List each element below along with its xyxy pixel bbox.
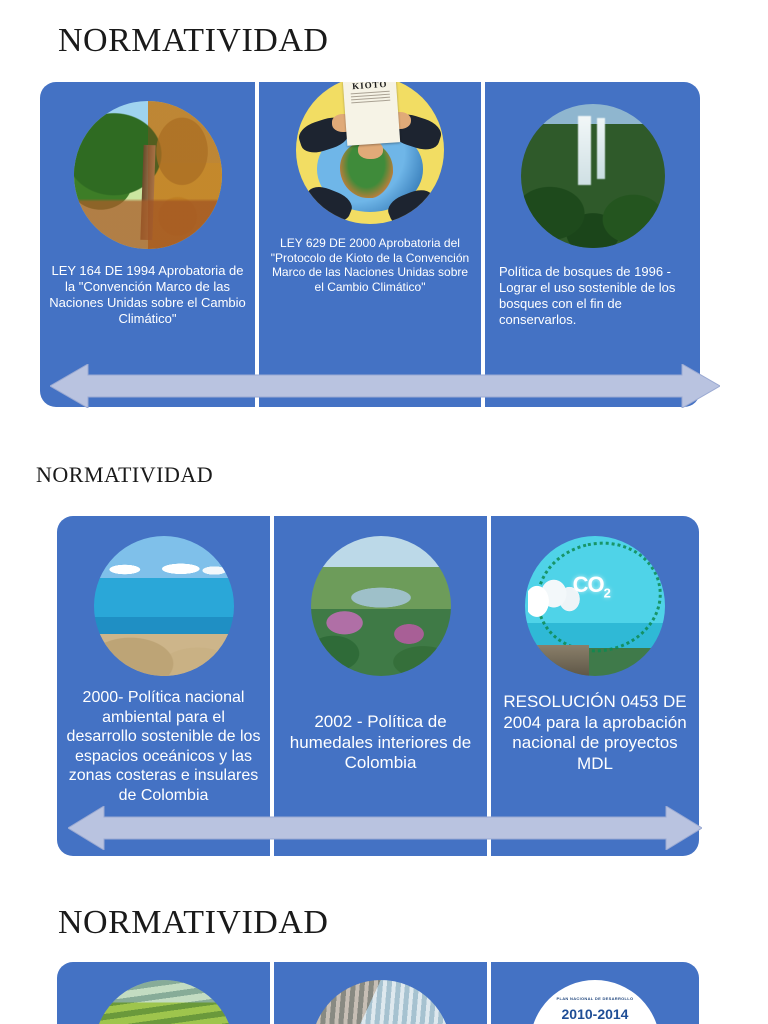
coastline-sea-photo bbox=[94, 536, 234, 676]
card-text-2-1: 2000- Política nacional ambiental para e… bbox=[57, 688, 270, 805]
card-politica-nacional-ambiental-2000[interactable]: 2000- Política nacional ambiental para e… bbox=[57, 516, 270, 856]
pnd-years: 2010-2014 bbox=[530, 1006, 660, 1022]
crop-fields-photo bbox=[94, 980, 234, 1024]
slide-section-2: NORMATIVIDAD 2000- Política nacional amb… bbox=[0, 440, 768, 890]
waterfall-forest-photo bbox=[521, 104, 665, 248]
card-ley-629-de-2000[interactable]: KIOTO LEY 629 DE 2000 Aprobatoria del "P… bbox=[259, 82, 481, 407]
doc-rule-4 bbox=[351, 100, 390, 104]
double-headed-timeline-arrow-1 bbox=[50, 364, 720, 408]
card-ley-164-de-1994[interactable]: LEY 164 DE 1994 Aprobatoria de la "Conve… bbox=[40, 82, 255, 407]
slide-section-1: NORMATIVIDAD LEY 164 DE 1994 Aprobatoria… bbox=[0, 0, 768, 440]
card-text-2-3: RESOLUCIÓN 0453 DE 2004 para la aprobaci… bbox=[491, 692, 699, 775]
page-title-2: NORMATIVIDAD bbox=[36, 462, 213, 488]
card-strip-2: 2000- Política nacional ambiental para e… bbox=[57, 516, 699, 856]
card-resolucion-0453-de-2004[interactable]: CO2 RESOLUCIÓN 0453 DE 2004 para la apro… bbox=[491, 516, 699, 856]
slide-section-3: NORMATIVIDAD PLAN NACIONAL DE DESARROLLO… bbox=[0, 890, 768, 1024]
card-text-1-1: LEY 164 DE 1994 Aprobatoria de la "Conve… bbox=[40, 263, 255, 326]
card-text-1-2: LEY 629 DE 2000 Aprobatoria del "Protoco… bbox=[259, 236, 481, 295]
card-strip-1: LEY 164 DE 1994 Aprobatoria de la "Conve… bbox=[40, 82, 700, 407]
kyoto-document-title: KIOTO bbox=[352, 82, 388, 91]
waterfall-stream-1 bbox=[578, 116, 591, 185]
co2-label: CO2 bbox=[573, 572, 610, 600]
waterfall-stream-2 bbox=[597, 118, 606, 178]
card-section3-1[interactable] bbox=[57, 962, 270, 1024]
double-headed-timeline-arrow-2 bbox=[68, 806, 702, 850]
co2-emissions-photo: CO2 bbox=[525, 536, 665, 676]
card-politica-humedales-2002[interactable]: 2002 - Política de humedales interiores … bbox=[274, 516, 487, 856]
card-politica-de-bosques-1996[interactable]: Política de bosques de 1996 - Lograr el … bbox=[485, 82, 700, 407]
tree-climate-change-photo bbox=[74, 101, 222, 249]
card-text-1-3: Política de bosques de 1996 - Lograr el … bbox=[485, 264, 700, 327]
kyoto-document: KIOTO bbox=[343, 82, 401, 146]
pnd-subtitle: PLAN NACIONAL DE DESARROLLO bbox=[530, 996, 660, 1001]
card-text-2-2: 2002 - Política de humedales interiores … bbox=[274, 712, 487, 774]
industrial-plant bbox=[531, 645, 590, 676]
card-section3-3[interactable]: PLAN NACIONAL DE DESARROLLO 2010-2014 Pr… bbox=[491, 962, 699, 1024]
tree-trunk-shape bbox=[140, 145, 155, 240]
kyoto-protocol-illustration: KIOTO bbox=[296, 82, 444, 224]
card-section3-2[interactable] bbox=[274, 962, 487, 1024]
page-title-1: NORMATIVIDAD bbox=[58, 22, 328, 60]
page-title-3: NORMATIVIDAD bbox=[58, 904, 328, 942]
river-rocks-photo bbox=[311, 980, 451, 1024]
wetland-photo bbox=[311, 536, 451, 676]
card-strip-3: PLAN NACIONAL DE DESARROLLO 2010-2014 Pr… bbox=[57, 962, 699, 1024]
national-development-plan-logo: PLAN NACIONAL DE DESARROLLO 2010-2014 Pr… bbox=[530, 980, 660, 1024]
